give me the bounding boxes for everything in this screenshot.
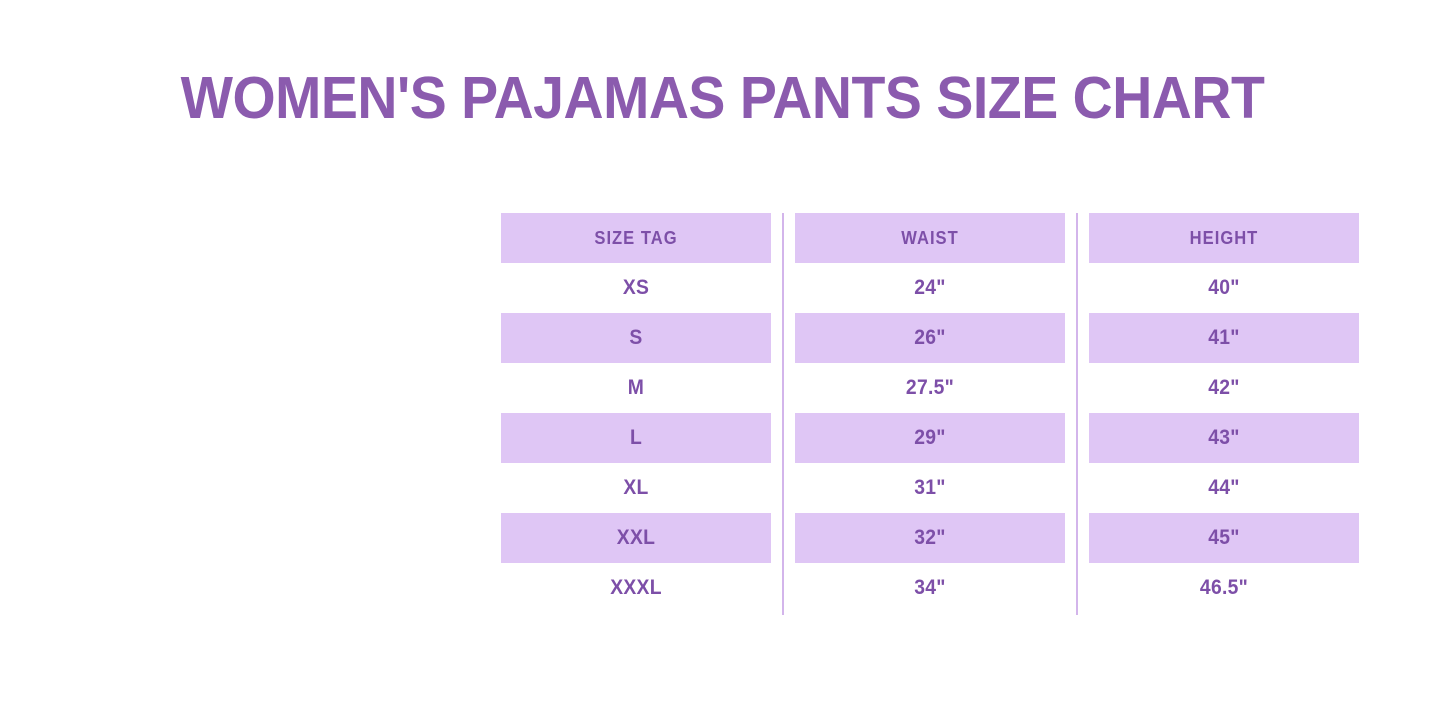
- table-body: XS 24" 40" S 26" 41" M 27.5" 42" L 29": [489, 263, 1371, 613]
- cell-size-tag: M: [501, 363, 771, 413]
- cell-size-tag: L: [501, 413, 771, 463]
- cell-height: 46.5": [1089, 563, 1359, 613]
- column-header-waist: WAIST: [795, 213, 1065, 263]
- table-row: S 26" 41": [489, 313, 1371, 363]
- cell-waist: 29": [795, 413, 1065, 463]
- cell-height: 40": [1089, 263, 1359, 313]
- cell-height: 42": [1089, 363, 1359, 413]
- cell-size-tag: XXL: [501, 513, 771, 563]
- table-row: XXXL 34" 46.5": [489, 563, 1371, 613]
- cell-waist: 26": [795, 313, 1065, 363]
- size-chart-page: WOMEN'S PAJAMAS PANTS SIZE CHART SIZE TA…: [0, 0, 1445, 723]
- table-row: XS 24" 40": [489, 263, 1371, 313]
- table-row: M 27.5" 42": [489, 363, 1371, 413]
- column-header-height: HEIGHT: [1089, 213, 1359, 263]
- table-row: XXL 32" 45": [489, 513, 1371, 563]
- cell-height: 44": [1089, 463, 1359, 513]
- table-row: L 29" 43": [489, 413, 1371, 463]
- column-header-size-tag: SIZE TAG: [501, 213, 771, 263]
- cell-waist: 34": [795, 563, 1065, 613]
- cell-height: 45": [1089, 513, 1359, 563]
- cell-size-tag: XS: [501, 263, 771, 313]
- table-header-row: SIZE TAG WAIST HEIGHT: [489, 213, 1371, 263]
- cell-size-tag: S: [501, 313, 771, 363]
- cell-waist: 31": [795, 463, 1065, 513]
- cell-waist: 24": [795, 263, 1065, 313]
- cell-height: 41": [1089, 313, 1359, 363]
- table-header: SIZE TAG WAIST HEIGHT: [489, 213, 1371, 263]
- cell-waist: 27.5": [795, 363, 1065, 413]
- size-chart-table-container: SIZE TAG WAIST HEIGHT XS 24" 40" S 26" 4…: [489, 213, 1371, 613]
- cell-size-tag: XL: [501, 463, 771, 513]
- page-title: WOMEN'S PAJAMAS PANTS SIZE CHART: [43, 66, 1401, 131]
- cell-height: 43": [1089, 413, 1359, 463]
- cell-waist: 32": [795, 513, 1065, 563]
- size-chart-table: SIZE TAG WAIST HEIGHT XS 24" 40" S 26" 4…: [489, 213, 1371, 613]
- cell-size-tag: XXXL: [501, 563, 771, 613]
- table-row: XL 31" 44": [489, 463, 1371, 513]
